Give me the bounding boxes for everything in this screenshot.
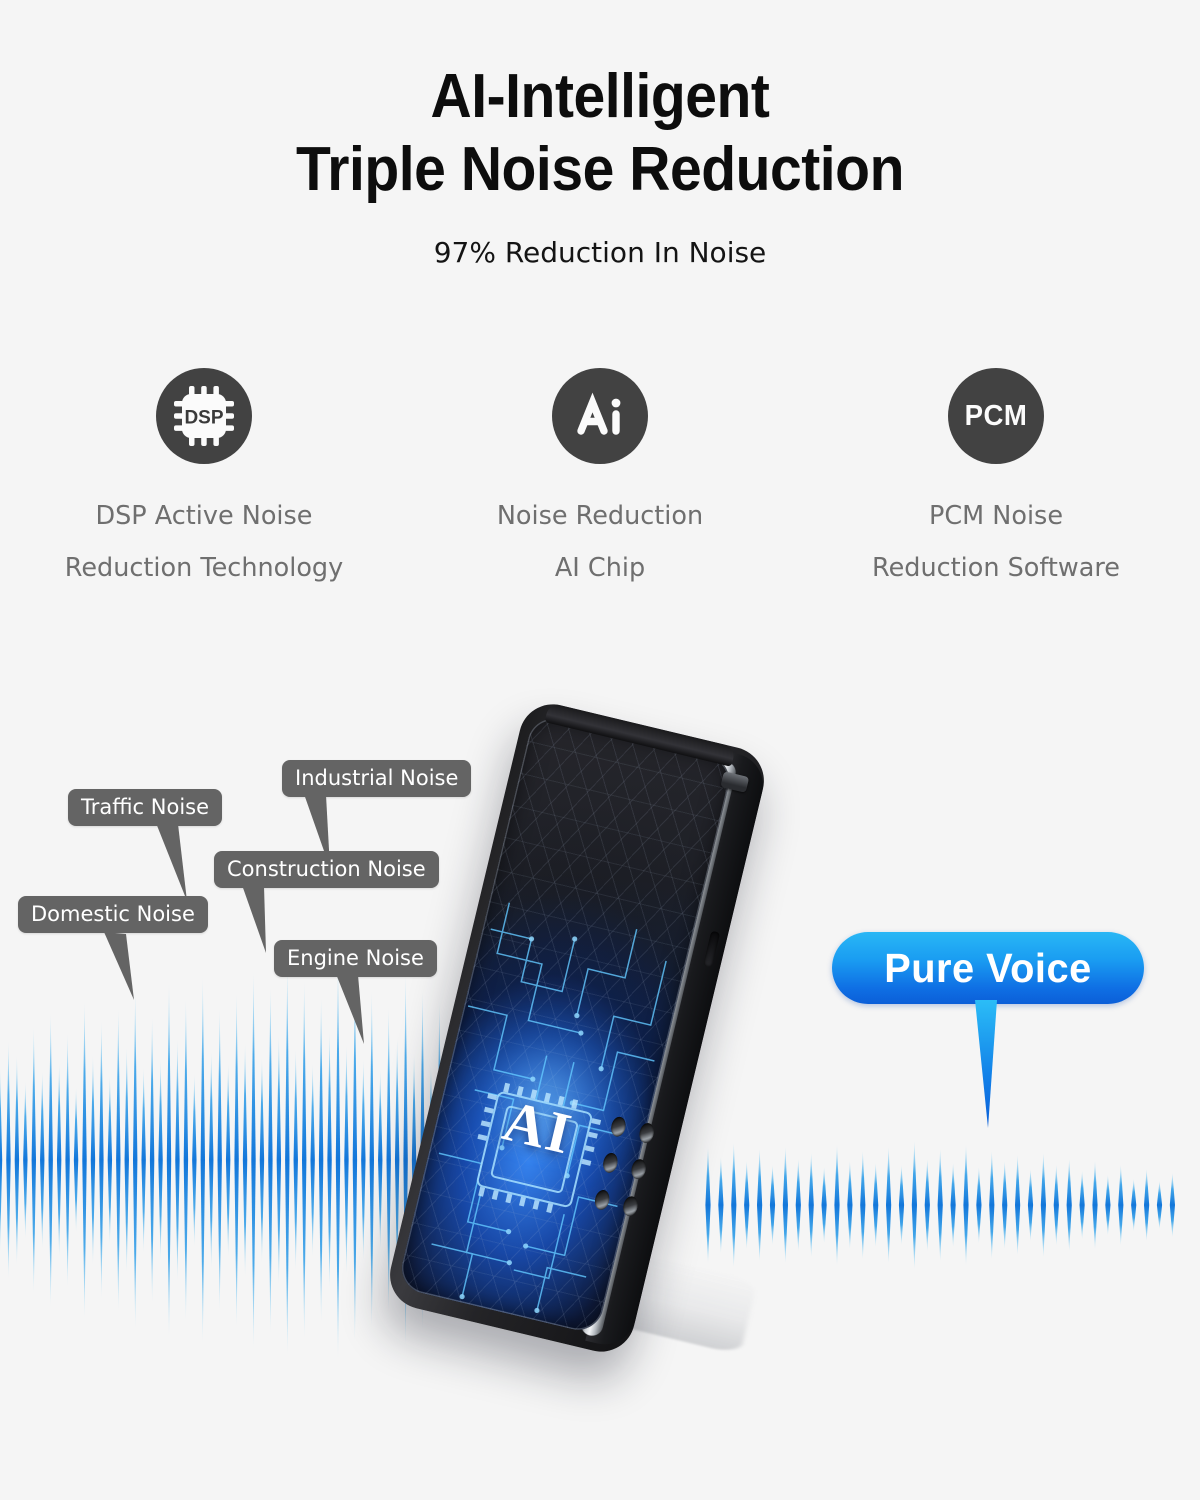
waveform-spike (1067, 1159, 1072, 1251)
waveform-spike (125, 1048, 129, 1272)
waveform-spike (23, 1082, 27, 1238)
waveform-spike (260, 1058, 264, 1262)
callout-industrial-noise: Industrial Noise (282, 760, 471, 797)
feature-pcm-caption-line2: Reduction Software (872, 542, 1120, 594)
waveform-spike (243, 1044, 247, 1276)
feature-dsp-caption-line2: Reduction Technology (65, 542, 343, 594)
pure-voice-pointer (973, 1000, 1009, 1130)
feature-dsp-caption: DSP Active Noise Reduction Technology (65, 490, 343, 594)
waveform-spike (285, 966, 289, 1354)
waveform-spike (1105, 1175, 1110, 1235)
pure-voice-label: Pure Voice (884, 945, 1091, 992)
waveform-spike (1015, 1155, 1020, 1255)
waveform-spike (209, 1052, 213, 1268)
waveform-spike (378, 1070, 382, 1250)
waveform-spike (912, 1141, 917, 1269)
waveform-spike (6, 1042, 10, 1278)
waveform-spike (116, 1010, 120, 1310)
speaker-hole (609, 1115, 627, 1138)
waveform-spike (925, 1159, 930, 1251)
speaker-hole (638, 1122, 656, 1145)
waveform-spike (74, 1088, 78, 1232)
callout-construction-noise: Construction Noise (214, 851, 439, 888)
speaker-hole (622, 1195, 640, 1218)
ai-letters-icon (552, 368, 648, 464)
page-title-line2: Triple Noise Reduction (48, 133, 1152, 206)
waveform-spike (133, 992, 137, 1328)
callout-engine-noise: Engine Noise (274, 940, 437, 977)
waveform-spike (319, 998, 323, 1322)
waveform-spike (175, 1040, 179, 1280)
callout-engine-noise-label: Engine Noise (274, 940, 437, 977)
feature-ai-chip-caption-line2: AI Chip (497, 542, 703, 594)
waveform-spike (976, 1167, 981, 1243)
waveform-spike (108, 1076, 112, 1244)
waveform-spike (167, 984, 171, 1336)
callout-industrial-noise-label: Industrial Noise (282, 760, 471, 797)
product-device-image: AI (392, 700, 822, 1500)
waveform-spike (302, 982, 306, 1338)
svg-text:DSP: DSP (184, 408, 223, 429)
waveform-spike (40, 1072, 44, 1248)
waveform-spike (294, 1050, 298, 1270)
waveform-spike (344, 1046, 348, 1274)
waveform-spike (226, 1064, 230, 1256)
waveform-spike (1041, 1153, 1046, 1257)
pcm-badge-label: PCM (965, 400, 1028, 433)
waveform-spike (951, 1163, 956, 1247)
feature-pcm-caption: PCM Noise Reduction Software (872, 490, 1120, 594)
waveform-spike (251, 972, 255, 1348)
waveform-spike (91, 1056, 95, 1264)
pcm-letters-icon: PCM (948, 368, 1044, 464)
waveform-spike (860, 1151, 865, 1259)
page-title: AI-Intelligent Triple Noise Reduction (48, 60, 1152, 206)
pure-voice-pill: Pure Voice (832, 932, 1144, 1004)
callout-traffic-noise: Traffic Noise (68, 789, 222, 826)
feature-dsp: DSP DSP Active Noise Reduction Technolog… (6, 368, 402, 594)
waveform-spike (899, 1165, 904, 1245)
waveform-spike (822, 1167, 827, 1243)
waveform-spike (361, 1060, 365, 1260)
waveform-spike (192, 1074, 196, 1246)
waveform-spike (201, 978, 205, 1342)
waveform-spike (15, 1056, 19, 1264)
waveform-spike (57, 1064, 61, 1256)
callout-pointer (156, 823, 216, 903)
waveform-spike (1131, 1179, 1136, 1231)
page-title-line1: AI-Intelligent (431, 62, 770, 131)
waveform-spike (141, 1068, 145, 1252)
waveform-spike (873, 1163, 878, 1247)
waveform-spike (834, 1145, 839, 1265)
speaker-hole (630, 1158, 648, 1181)
waveform-spike (1157, 1181, 1162, 1229)
waveform-spike (847, 1161, 852, 1249)
dsp-chip-icon: DSP (156, 368, 252, 464)
waveform-spike (0, 1068, 2, 1252)
feature-ai-chip-caption-line1: Noise Reduction (497, 490, 703, 542)
pure-voice-badge: Pure Voice (832, 932, 1144, 1004)
waveform-spike (1118, 1165, 1123, 1245)
waveform-spike (1170, 1173, 1175, 1237)
feature-ai-chip: Noise Reduction AI Chip (402, 368, 798, 594)
waveform-spike (184, 1000, 188, 1320)
waveform-spike (150, 1018, 154, 1302)
waveform-spike (989, 1151, 994, 1259)
callout-pointer (336, 974, 396, 1046)
waveform-spike (277, 1036, 281, 1284)
feature-pcm: PCM PCM Noise Reduction Software (798, 368, 1194, 594)
waveform-spike (158, 1060, 162, 1260)
waveform-spike (1092, 1161, 1097, 1249)
waveform-spike (886, 1147, 891, 1263)
page-subtitle: 97% Reduction In Noise (0, 236, 1200, 269)
waveform-spike (49, 1014, 53, 1306)
waveform-spike (1002, 1161, 1007, 1249)
callout-construction-noise-label: Construction Noise (214, 851, 439, 888)
waveform-spike (327, 1032, 331, 1288)
callout-traffic-noise-label: Traffic Noise (68, 789, 222, 826)
waveform-spike (82, 1002, 86, 1318)
waveform-spike (1054, 1165, 1059, 1245)
waveform-spike (310, 1064, 314, 1256)
waveform-spike (218, 1010, 222, 1310)
waveform-spike (1028, 1169, 1033, 1241)
waveform-spike (65, 1034, 69, 1286)
waveform-spike (99, 1022, 103, 1298)
waveform-spike (234, 994, 238, 1326)
waveform-spike (268, 988, 272, 1332)
waveform-spike (938, 1149, 943, 1261)
speaker-hole (601, 1152, 619, 1175)
feature-dsp-caption-line1: DSP Active Noise (65, 490, 343, 542)
feature-pcm-caption-line1: PCM Noise (872, 490, 1120, 542)
callout-pointer (104, 932, 164, 1002)
feature-row: DSP DSP Active Noise Reduction Technolog… (0, 368, 1200, 594)
waveform-spike (963, 1145, 968, 1265)
speaker-hole (593, 1188, 611, 1211)
product-feature-page: AI-Intelligent Triple Noise Reduction 97… (0, 0, 1200, 1500)
waveform-spike (1144, 1169, 1149, 1241)
waveform-spike (1080, 1171, 1085, 1239)
waveform-spike (32, 1028, 36, 1292)
feature-ai-chip-caption: Noise Reduction AI Chip (497, 490, 703, 594)
